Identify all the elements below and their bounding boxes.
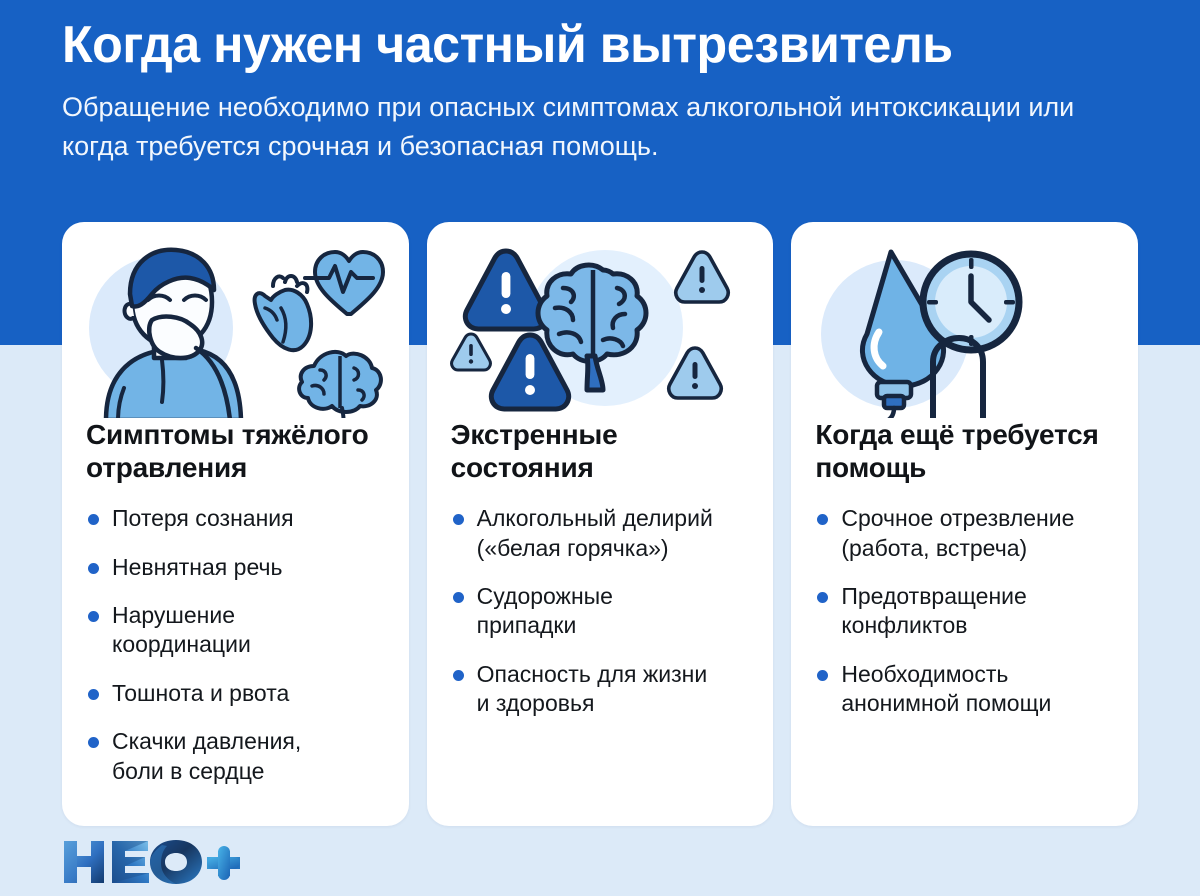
card-when-else-help-needed[interactable]: Когда ещё требуется помощь Срочное отрез… [791,222,1138,826]
list-item-label: Алкогольный делирий («белая горячка») [477,505,713,560]
card-body: Симптомы тяжёлого отравления Потеря созн… [62,418,409,826]
list-item-label: Предотвращение конфликтов [841,583,1026,638]
bullet-dot-icon [88,563,99,574]
card-emergency-conditions[interactable]: Экстренные состояния Алкогольный делирий… [427,222,774,826]
list-item: Срочное отрезвление (работа, встреча) [815,504,1116,563]
card-title: Симптомы тяжёлого отравления [86,418,387,484]
anatomical-heart-icon [255,276,311,350]
list-item-label: Срочное отрезвление (работа, встреча) [841,505,1074,560]
warning-triangle-icon [675,252,727,302]
list-item: Скачки давления, боли в сердце [86,727,387,786]
bullet-dot-icon [453,670,464,681]
brain-icon [299,352,381,418]
bullet-dot-icon [453,514,464,525]
list-item-label: Судорожные припадки [477,583,613,638]
neo-plus-logo-mark [60,839,245,885]
warning-triangle-icon [451,334,490,370]
list-item: Тошнота и рвота [86,679,387,708]
list-item: Судорожные припадки [451,582,752,641]
list-item: Опасность для жизни и здоровья [451,660,752,719]
list-item: Алкогольный делирий («белая горячка») [451,504,752,563]
bullet-list: Срочное отрезвление (работа, встреча) Пр… [815,504,1116,719]
card-title: Когда ещё требуется помощь [815,418,1116,484]
clock-icon [923,254,1019,350]
warning-triangle-icon [465,251,546,329]
bullet-list: Потеря сознания Невнятная речь Нарушение… [86,504,387,786]
list-item-label: Необходимость анонимной помощи [841,661,1051,716]
card-row: Симптомы тяжёлого отравления Потеря созн… [62,222,1138,826]
list-item-label: Потеря сознания [112,505,294,531]
bullet-dot-icon [88,611,99,622]
neo-plus-logo [60,840,245,884]
iv-drip-clock-illustration [791,222,1138,418]
list-item: Необходимость анонимной помощи [815,660,1116,719]
list-item-label: Тошнота и рвота [112,680,289,706]
card-body: Экстренные состояния Алкогольный делирий… [427,418,774,826]
bullet-dot-icon [817,592,828,603]
bullet-dot-icon [88,689,99,700]
list-item: Потеря сознания [86,504,387,533]
bullet-dot-icon [453,592,464,603]
page-subtitle: Обращение необходимо при опасных симптом… [62,88,1092,165]
card-title: Экстренные состояния [451,418,752,484]
header-content: Когда нужен частный вытрезвитель Обращен… [62,16,1152,165]
bullet-dot-icon [88,737,99,748]
list-item-label: Невнятная речь [112,554,282,580]
card-severe-poisoning-symptoms[interactable]: Симптомы тяжёлого отравления Потеря созн… [62,222,409,826]
list-item: Предотвращение конфликтов [815,582,1116,641]
card-body: Когда ещё требуется помощь Срочное отрез… [791,418,1138,826]
page-title: Когда нужен частный вытрезвитель [62,16,1114,74]
bullet-dot-icon [817,670,828,681]
bullet-dot-icon [88,514,99,525]
list-item-label: Нарушение координации [112,602,251,657]
list-item-label: Опасность для жизни и здоровья [477,661,708,716]
list-item: Нарушение координации [86,601,387,660]
brain-warning-triangles-illustration [427,222,774,418]
bullet-list: Алкогольный делирий («белая горячка») Су… [451,504,752,719]
list-item: Невнятная речь [86,553,387,582]
bullet-dot-icon [817,514,828,525]
heartbeat-ecg-icon [305,252,383,314]
sick-man-heart-brain-illustration [62,222,409,418]
list-item-label: Скачки давления, боли в сердце [112,728,301,783]
